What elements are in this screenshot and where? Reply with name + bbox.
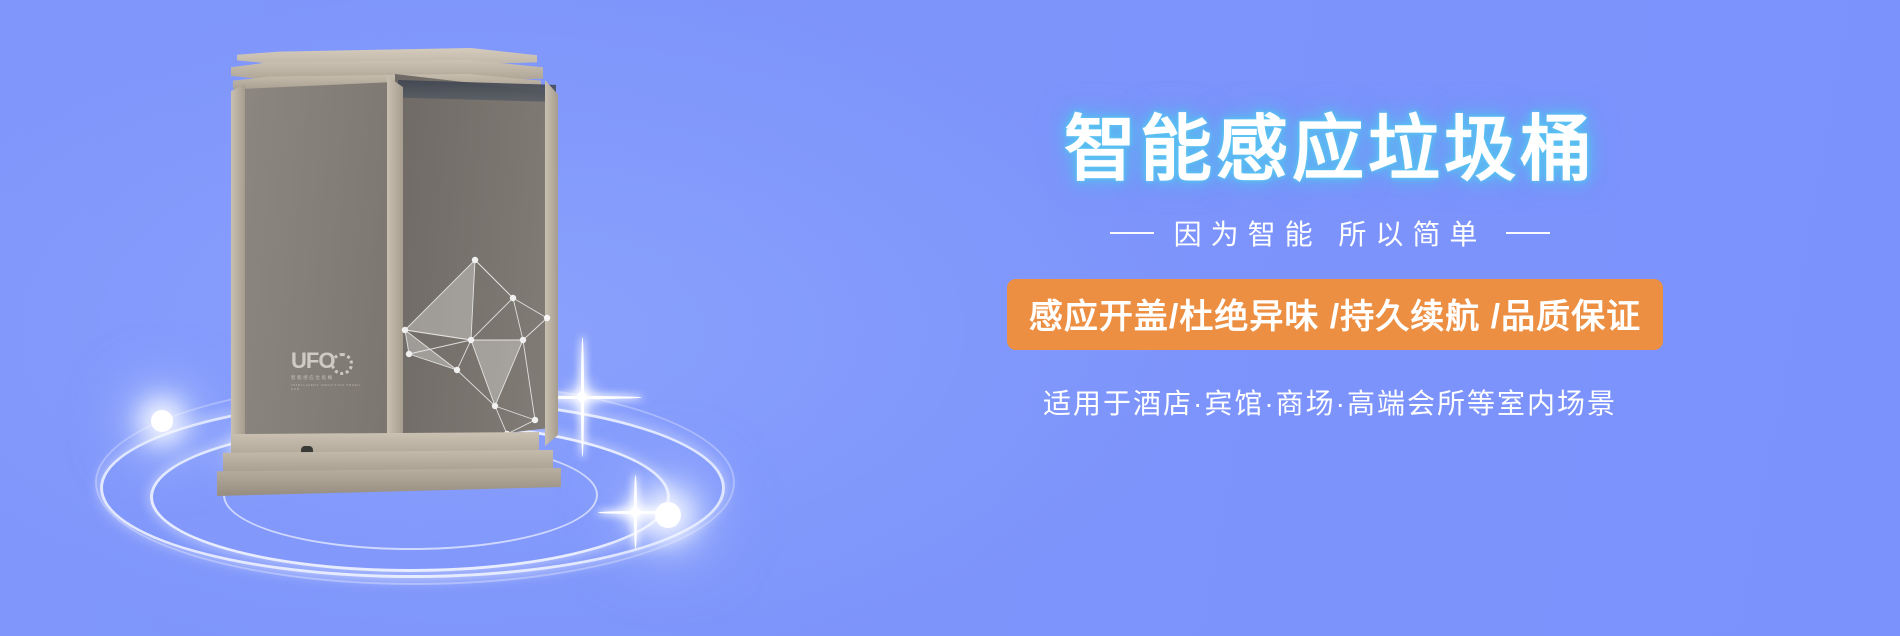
- brand-logo: UFO 智能感应垃圾桶 INTELLIGENT INDUCTION TRASH …: [291, 350, 369, 400]
- feature-highlight-badge: 感应开盖/杜绝异味 /持久续航 /品质保证: [1007, 279, 1663, 350]
- subtitle-row: 因为智能 所以简单: [880, 213, 1780, 253]
- brand-logo-ring-icon: [331, 353, 353, 375]
- feature-highlight-text: 感应开盖/杜绝异味 /持久续航 /品质保证: [1029, 298, 1641, 336]
- dash-left-icon: [1110, 232, 1154, 234]
- promo-banner: UFO 智能感应垃圾桶 INTELLIGENT INDUCTION TRASH …: [0, 0, 1900, 636]
- glow-dot-icon: [655, 502, 681, 528]
- subtitle-text: 因为智能 所以简单: [1174, 213, 1487, 253]
- dash-right-icon: [1506, 232, 1550, 234]
- trash-can-base: [217, 432, 567, 504]
- base-tier-3: [217, 468, 561, 496]
- trash-can-edge-left: [231, 84, 245, 444]
- trash-can-illustration: UFO 智能感应垃圾桶 INTELLIGENT INDUCTION TRASH …: [235, 40, 565, 480]
- polygon-network-graphic: [395, 220, 560, 450]
- tagline-text: 适用于酒店·宾馆·商场·高端会所等室内场景: [880, 382, 1780, 422]
- brand-logo-text: UFO: [291, 350, 369, 372]
- glow-dot-icon: [151, 410, 173, 432]
- brand-logo-subtitle: 智能感应垃圾桶: [291, 375, 369, 381]
- marketing-copy: 智能感应垃圾桶 因为智能 所以简单 感应开盖/杜绝异味 /持久续航 /品质保证 …: [880, 110, 1780, 422]
- product-visual: UFO 智能感应垃圾桶 INTELLIGENT INDUCTION TRASH …: [95, 40, 745, 600]
- brand-logo-subtitle-en: INTELLIGENT INDUCTION TRASH CAN: [291, 383, 369, 391]
- page-title: 智能感应垃圾桶: [880, 110, 1780, 191]
